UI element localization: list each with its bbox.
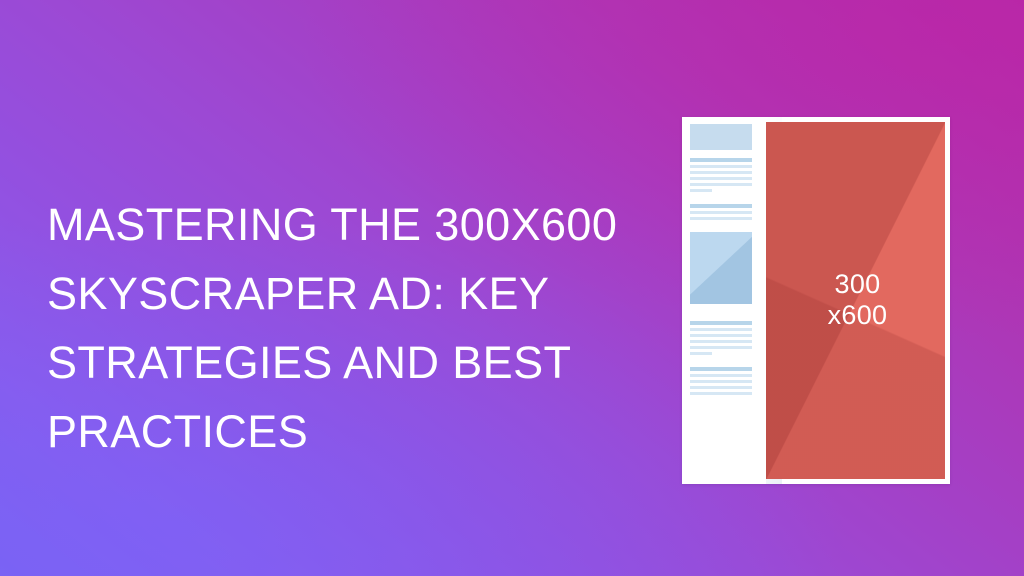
placeholder-text-line <box>690 346 752 349</box>
placeholder-text-line <box>690 374 752 377</box>
placeholder-image <box>690 124 752 150</box>
article-column <box>682 117 766 484</box>
placeholder-text-line <box>690 211 752 214</box>
placeholder-text-line <box>690 380 752 383</box>
skyscraper-ad-slot[interactable]: 300 x600 <box>766 122 945 479</box>
placeholder-text-line <box>690 177 752 180</box>
placeholder-text-line <box>690 386 752 389</box>
placeholder-gap <box>690 358 766 367</box>
placeholder-text-line <box>690 328 752 331</box>
placeholder-text-line <box>690 352 712 355</box>
placeholder-text-line <box>690 392 752 395</box>
placeholder-text-line <box>690 189 712 192</box>
page-title: Mastering the 300x600 Skyscraper Ad: Key… <box>47 190 672 466</box>
placeholder-gap <box>690 312 766 321</box>
placeholder-heading-line <box>690 321 752 325</box>
placeholder-heading-line <box>690 204 752 208</box>
placeholder-heading-line <box>690 158 752 162</box>
slide-canvas: Mastering the 300x600 Skyscraper Ad: Key… <box>0 0 1024 576</box>
ad-mockup-card: 300 x600 <box>682 117 950 484</box>
placeholder-text-line <box>690 171 752 174</box>
placeholder-text-line <box>690 340 752 343</box>
placeholder-text-line <box>690 217 752 220</box>
placeholder-heading-line <box>690 367 752 371</box>
placeholder-text-line <box>690 165 752 168</box>
placeholder-text-line <box>690 334 752 337</box>
ad-size-label: 300 x600 <box>766 268 945 330</box>
placeholder-gap <box>690 195 766 204</box>
placeholder-gap <box>690 223 766 232</box>
placeholder-text-line <box>690 183 752 186</box>
placeholder-image-large <box>690 232 752 304</box>
